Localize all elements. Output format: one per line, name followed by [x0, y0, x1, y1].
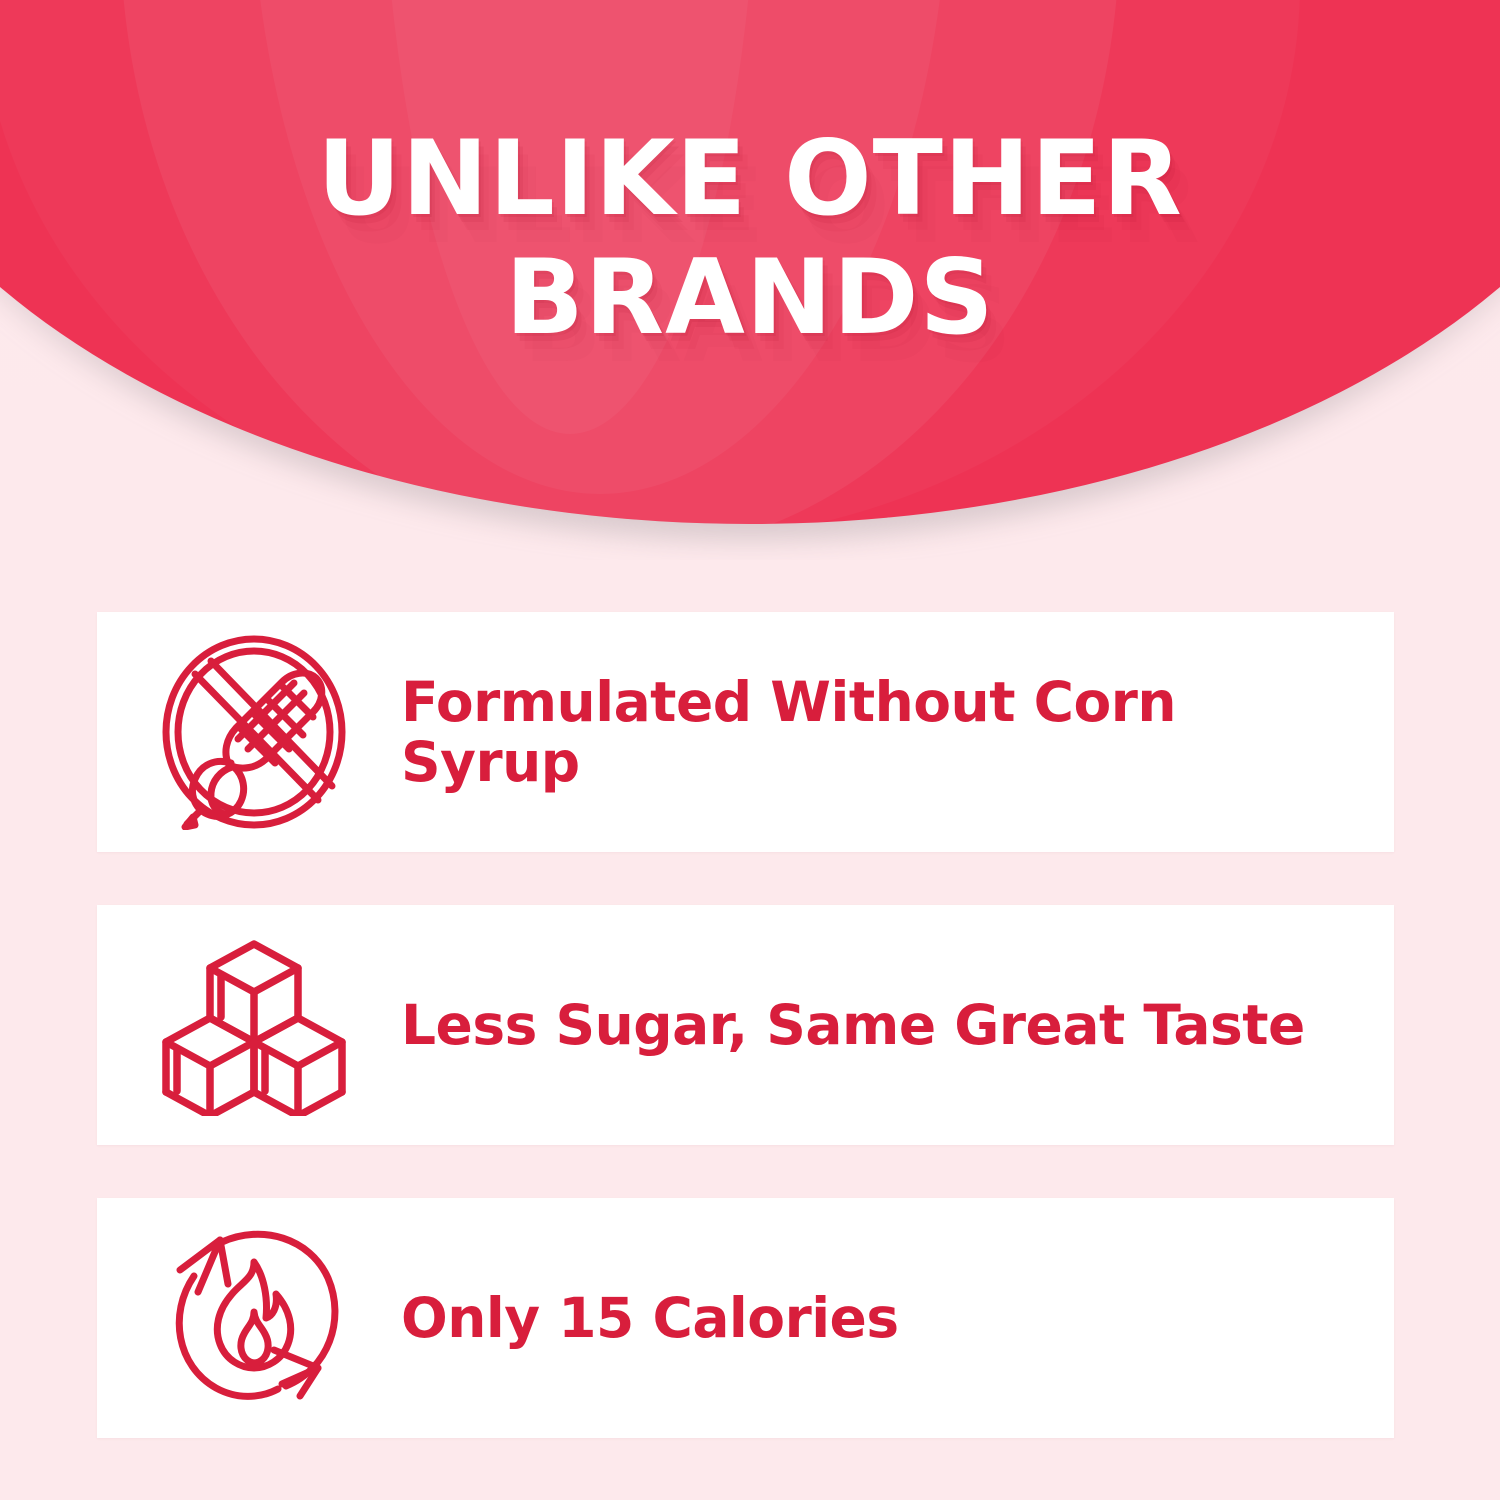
- sugar-cubes-icon: [149, 934, 359, 1116]
- feature-label: Formulated Without Corn Syrup: [401, 672, 1394, 793]
- calories-burn-cycle-icon: [149, 1226, 359, 1410]
- feature-card-corn-syrup: Formulated Without Corn Syrup: [97, 612, 1394, 852]
- feature-label: Less Sugar, Same Great Taste: [401, 995, 1394, 1056]
- product-feature-graphic: UNLIKE OTHER BRANDS: [0, 0, 1500, 1500]
- page-title: UNLIKE OTHER BRANDS: [0, 120, 1500, 359]
- feature-label: Only 15 Calories: [401, 1288, 1394, 1349]
- no-corn-syrup-icon: [149, 634, 359, 830]
- feature-card-less-sugar: Less Sugar, Same Great Taste: [97, 905, 1394, 1145]
- feature-card-list: Formulated Without Corn Syrup: [97, 612, 1394, 1438]
- feature-card-calories: Only 15 Calories: [97, 1198, 1394, 1438]
- header-banner: UNLIKE OTHER BRANDS: [0, 0, 1500, 560]
